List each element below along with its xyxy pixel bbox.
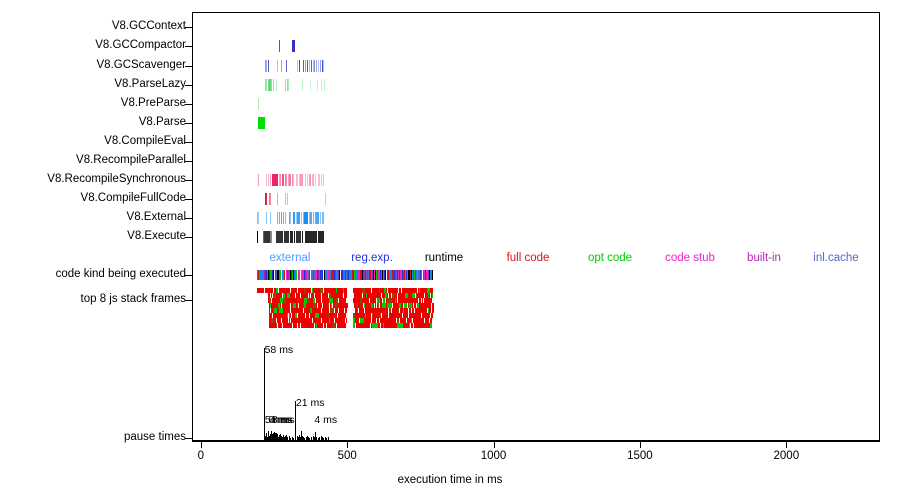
y-axis-tick <box>185 85 192 86</box>
event-strip-10 <box>192 212 880 224</box>
y-axis-tick <box>185 237 192 238</box>
x-axis-tick-4 <box>786 441 787 448</box>
event-strip-7 <box>192 155 880 167</box>
y-axis-label-1: V8.GCCompactor <box>95 40 186 52</box>
pause-annotation-label-5: 21 ms <box>296 398 325 409</box>
pause-annotation-label-4: 8 ms <box>272 415 295 426</box>
y-axis-tick <box>185 142 192 143</box>
y-axis-tick-extra-1 <box>185 300 192 301</box>
event-strip-3 <box>192 79 880 91</box>
event-strip-2 <box>192 60 880 72</box>
x-axis-tick-1 <box>347 441 348 448</box>
y-axis-label-11: V8.Execute <box>127 231 186 243</box>
y-axis-tick <box>185 199 192 200</box>
y-axis-tick <box>185 218 192 219</box>
legend-item-code-stub: code stub <box>665 252 715 264</box>
plot-frame <box>192 12 880 441</box>
legend-item-runtime: runtime <box>425 252 463 264</box>
stack-frames-strip <box>192 288 880 328</box>
event-strip-11 <box>192 231 880 243</box>
x-axis-tick-label-1: 500 <box>338 450 357 462</box>
pause-times-label: pause times <box>124 432 186 444</box>
y-axis-label-9: V8.CompileFullCode <box>81 193 186 205</box>
event-strip-0 <box>192 21 880 33</box>
y-axis-label-5: V8.Parse <box>139 117 186 129</box>
y-axis-label-3: V8.ParseLazy <box>114 79 186 91</box>
x-axis-tick-label-4: 2000 <box>774 450 800 462</box>
y-axis-label-10: V8.External <box>127 212 186 224</box>
event-strip-9 <box>192 193 880 205</box>
y-axis-tick-pause <box>185 438 192 439</box>
x-axis-tick-3 <box>640 441 641 448</box>
legend-item-built-in: built-in <box>747 252 781 264</box>
x-axis-tick-2 <box>494 441 495 448</box>
y-axis-label-6: V8.CompileEval <box>104 136 186 148</box>
y-axis-tick <box>185 180 192 181</box>
x-axis-line <box>192 441 880 442</box>
v8-profiling-timeline-chart: externalreg.exp.runtimefull codeopt code… <box>0 0 900 500</box>
legend-item-inl-cache: inl.cache <box>813 252 858 264</box>
y-axis-tick <box>185 66 192 67</box>
pause-annotation-label-0: 58 ms <box>265 345 294 356</box>
event-strip-8 <box>192 174 880 186</box>
event-strip-1 <box>192 40 880 52</box>
pause-annotation-label-6: 4 ms <box>314 415 337 426</box>
y-axis-tick-extra-0 <box>185 275 192 276</box>
y-axis-label-7: V8.RecompileParallel <box>76 155 186 167</box>
legend-item-full-code: full code <box>507 252 550 264</box>
y-axis-label-8: V8.RecompileSynchronous <box>47 174 186 186</box>
legend-item-reg-exp-: reg.exp. <box>351 252 393 264</box>
legend-item-external: external <box>270 252 311 264</box>
extra-row-label-1: top 8 js stack frames <box>81 294 186 306</box>
event-strip-5 <box>192 117 880 129</box>
y-axis-tick <box>185 161 192 162</box>
y-axis-tick <box>185 104 192 105</box>
x-axis-title: execution time in ms <box>0 474 900 486</box>
extra-row-label-0: code kind being executed <box>56 269 186 281</box>
legend-item-opt-code: opt code <box>588 252 632 264</box>
x-axis-tick-label-3: 1500 <box>627 450 653 462</box>
x-axis-tick-label-2: 1000 <box>481 450 507 462</box>
x-axis-tick-label-0: 0 <box>198 450 204 462</box>
event-strip-6 <box>192 136 880 148</box>
y-axis-label-0: V8.GCContext <box>112 21 186 33</box>
y-axis-tick <box>185 123 192 124</box>
event-strip-4 <box>192 98 880 110</box>
y-axis-label-2: V8.GCScavenger <box>97 60 187 72</box>
y-axis-tick <box>185 27 192 28</box>
pause-spike <box>328 437 329 440</box>
code-kind-strip <box>192 270 880 280</box>
y-axis-tick <box>185 46 192 47</box>
x-axis-tick-0 <box>201 441 202 448</box>
y-axis-label-4: V8.PreParse <box>121 98 186 110</box>
